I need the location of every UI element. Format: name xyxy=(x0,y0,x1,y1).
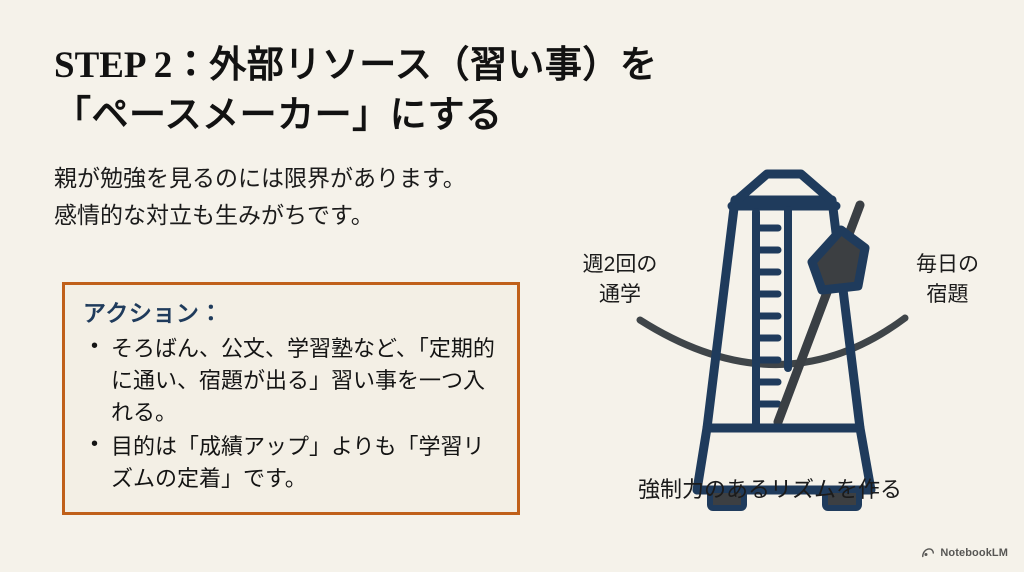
label-weekly-attendance: 週2回の 通学 xyxy=(555,250,685,310)
title-line-1: STEP 2：外部リソース（習い事）を xyxy=(54,40,694,90)
action-bullet-text: そろばん、公文、学習塾など、「定期的に通い、宿題が出る」習い事を一つ入れる。 xyxy=(111,336,495,425)
list-item: 目的は「成績アップ」よりも「学習リズムの定着」です。 xyxy=(89,431,499,495)
illustration-caption: 強制力のあるリズムを作る xyxy=(560,472,980,504)
notebooklm-icon xyxy=(921,546,935,560)
action-bullet-list: そろばん、公文、学習塾など、「定期的に通い、宿題が出る」習い事を一つ入れる。 目… xyxy=(83,333,499,496)
notebooklm-watermark-text: NotebookLM xyxy=(940,547,1008,559)
action-bullet-text: 目的は「成績アップ」よりも「学習リズムの定着」です。 xyxy=(111,434,485,491)
title-step-label: STEP 2 xyxy=(54,45,172,86)
lead-paragraph: 親が勉強を見るのには限界があります。 感情的な対立も生みがちです。 xyxy=(54,160,574,235)
title-separator: ： xyxy=(172,45,209,86)
slide-canvas: STEP 2：外部リソース（習い事）を 「ペースメーカー」にする 親が勉強を見る… xyxy=(0,0,1024,572)
action-box: アクション： そろばん、公文、学習塾など、「定期的に通い、宿題が出る」習い事を一… xyxy=(62,282,520,515)
action-box-heading: アクション： xyxy=(83,299,499,329)
title-line-2: 「ペースメーカー」にする xyxy=(54,90,694,139)
label-daily-homework: 毎日の 宿題 xyxy=(885,250,1010,310)
notebooklm-watermark: NotebookLM xyxy=(921,546,1008,560)
lead-line-1: 親が勉強を見るのには限界があります。 xyxy=(54,160,574,197)
pendulum-weight xyxy=(812,230,865,290)
lead-line-2: 感情的な対立も生みがちです。 xyxy=(54,197,574,234)
list-item: そろばん、公文、学習塾など、「定期的に通い、宿題が出る」習い事を一つ入れる。 xyxy=(89,333,499,429)
page-title: STEP 2：外部リソース（習い事）を 「ペースメーカー」にする xyxy=(54,40,694,139)
title-line-1-rest: 外部リソース（習い事）を xyxy=(209,44,657,85)
